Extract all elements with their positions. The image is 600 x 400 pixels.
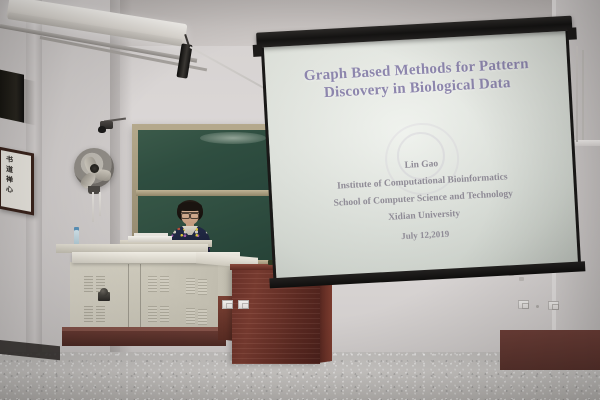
fan-pull-cord[interactable] bbox=[92, 192, 94, 222]
screen-bracket-left bbox=[253, 44, 263, 56]
podium-door-seam-1 bbox=[128, 264, 129, 332]
podium-door-seam-2 bbox=[140, 264, 141, 332]
power-outlet-plate-right[interactable] bbox=[548, 301, 559, 310]
wall-speaker-icon bbox=[0, 69, 24, 123]
papers-stack bbox=[128, 236, 172, 242]
fan-pull-cord-2[interactable] bbox=[99, 192, 101, 216]
framed-calligraphy: 书 道 禅 心 bbox=[0, 147, 34, 216]
wall-speaker-shadow bbox=[22, 79, 36, 126]
podium-vent bbox=[186, 278, 195, 294]
podium-vent bbox=[148, 276, 157, 292]
podium-vent bbox=[198, 309, 207, 325]
light-switch-plate-left[interactable] bbox=[222, 300, 233, 309]
projector-screen[interactable]: Graph Based Methods for Pattern Discover… bbox=[256, 16, 586, 299]
podium-vent bbox=[160, 276, 169, 292]
podium-vent bbox=[160, 306, 169, 322]
blackboard-glare bbox=[200, 132, 266, 144]
lecture-hall-photo: 书 道 禅 心 bbox=[0, 0, 600, 400]
floor-strip-right bbox=[500, 330, 600, 370]
podium-vent bbox=[186, 308, 195, 324]
podium-base bbox=[62, 330, 226, 346]
podium-cabinet bbox=[70, 262, 218, 334]
podium-vent bbox=[148, 306, 157, 322]
slide-title: Graph Based Methods for Pattern Discover… bbox=[265, 53, 569, 105]
calligraphy-char-4: 心 bbox=[6, 186, 20, 196]
podium-vent bbox=[84, 306, 93, 322]
water-bottle bbox=[74, 230, 79, 245]
calligraphy-char-2: 道 bbox=[6, 166, 20, 176]
slide-body: Lin Gao Institute of Computational Bioin… bbox=[270, 149, 576, 252]
podium-vent bbox=[96, 306, 105, 322]
wall-cable-secondary bbox=[582, 50, 584, 140]
wall-fan-icon bbox=[74, 148, 114, 188]
presenter-fringe bbox=[178, 202, 202, 211]
power-outlet-plate-left[interactable] bbox=[518, 300, 529, 309]
screen-bracket-right bbox=[567, 27, 577, 39]
eyeglasses-icon bbox=[181, 212, 199, 217]
frame-mat: 书 道 禅 心 bbox=[1, 150, 31, 212]
calligraphy-char-3: 禅 bbox=[6, 176, 20, 186]
podium-vent bbox=[84, 276, 93, 292]
fan-hub bbox=[90, 164, 99, 173]
podium-vent bbox=[198, 279, 207, 295]
screen-surface: Graph Based Methods for Pattern Discover… bbox=[261, 31, 581, 279]
wall-screw bbox=[536, 305, 539, 308]
calligraphy-characters: 书 道 禅 心 bbox=[6, 156, 20, 196]
podium-base-edge bbox=[62, 327, 230, 331]
padlock-icon[interactable] bbox=[100, 288, 108, 296]
light-switch-plate-right[interactable] bbox=[238, 300, 249, 309]
calligraphy-char-1: 书 bbox=[6, 156, 20, 166]
security-camera-lens bbox=[98, 126, 106, 133]
